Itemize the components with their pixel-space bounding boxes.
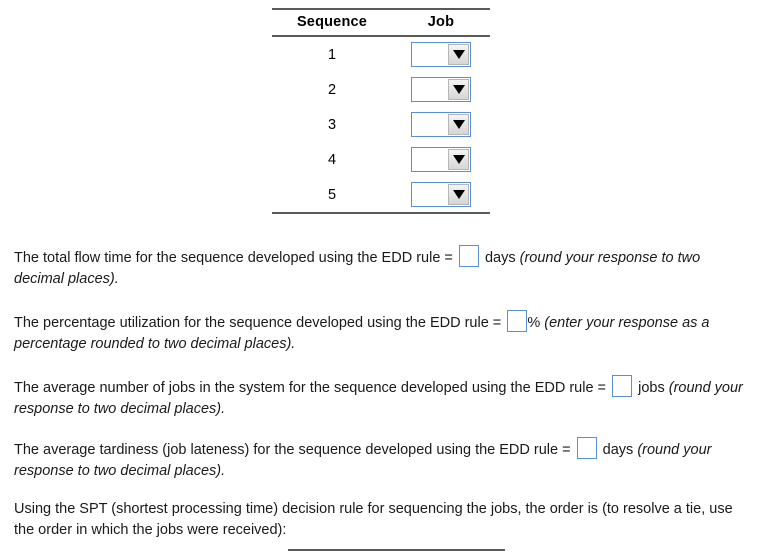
column-header-job: Job xyxy=(392,9,490,36)
table-row: 5 xyxy=(272,177,490,213)
job-cell-2 xyxy=(392,72,490,107)
question-average-tardiness: The average tardiness (job lateness) for… xyxy=(14,437,744,482)
avg-jobs-input[interactable] xyxy=(612,375,632,397)
job-cell-4 xyxy=(392,142,490,177)
question-total-flow-time: The total flow time for the sequence dev… xyxy=(14,245,744,290)
sequence-number-1: 1 xyxy=(272,36,392,72)
job-select-1[interactable] xyxy=(411,42,471,67)
avg-jobs-unit: jobs xyxy=(638,380,665,396)
utilization-input[interactable] xyxy=(507,310,527,332)
question-percentage-utilization: The percentage utilization for the seque… xyxy=(14,310,744,355)
question-avg-jobs-text: The average number of jobs in the system… xyxy=(14,380,606,396)
chevron-down-icon[interactable] xyxy=(448,114,469,135)
job-select-2[interactable] xyxy=(411,77,471,102)
job-cell-1 xyxy=(392,36,490,72)
question-utilization-text: The percentage utilization for the seque… xyxy=(14,315,501,331)
utilization-unit: % xyxy=(527,315,540,331)
table-body: 1 2 3 xyxy=(272,36,490,213)
tardiness-unit: days xyxy=(603,442,634,458)
flow-time-unit: days xyxy=(485,250,516,266)
table-header-row: Sequence Job xyxy=(272,9,490,36)
sequence-number-4: 4 xyxy=(272,142,392,177)
sequence-table: Sequence Job 1 2 xyxy=(272,8,490,214)
question-tardiness-text: The average tardiness (job lateness) for… xyxy=(14,442,571,458)
sequence-number-5: 5 xyxy=(272,177,392,213)
question-average-jobs-in-system: The average number of jobs in the system… xyxy=(14,375,744,420)
question-spt-text: Using the SPT (shortest processing time)… xyxy=(14,501,733,538)
chevron-down-icon[interactable] xyxy=(448,184,469,205)
table-row: 1 xyxy=(272,36,490,72)
sequence-job-table: Sequence Job 1 2 xyxy=(272,8,490,214)
job-select-4[interactable] xyxy=(411,147,471,172)
job-cell-3 xyxy=(392,107,490,142)
sequence-number-3: 3 xyxy=(272,107,392,142)
chevron-down-icon[interactable] xyxy=(448,149,469,170)
job-select-3[interactable] xyxy=(411,112,471,137)
column-header-sequence: Sequence xyxy=(272,9,392,36)
flow-time-input[interactable] xyxy=(459,245,479,267)
tardiness-input[interactable] xyxy=(577,437,597,459)
chevron-down-icon[interactable] xyxy=(448,44,469,65)
table-header: Sequence Job xyxy=(272,9,490,36)
job-cell-5 xyxy=(392,177,490,213)
table-row: 2 xyxy=(272,72,490,107)
question-spt-rule: Using the SPT (shortest processing time)… xyxy=(14,499,744,541)
chevron-down-icon[interactable] xyxy=(448,79,469,100)
table-row: 3 xyxy=(272,107,490,142)
sequence-number-2: 2 xyxy=(272,72,392,107)
spt-table-top-border xyxy=(288,549,505,551)
job-select-5[interactable] xyxy=(411,182,471,207)
table-row: 4 xyxy=(272,142,490,177)
question-flow-time-text: The total flow time for the sequence dev… xyxy=(14,250,453,266)
